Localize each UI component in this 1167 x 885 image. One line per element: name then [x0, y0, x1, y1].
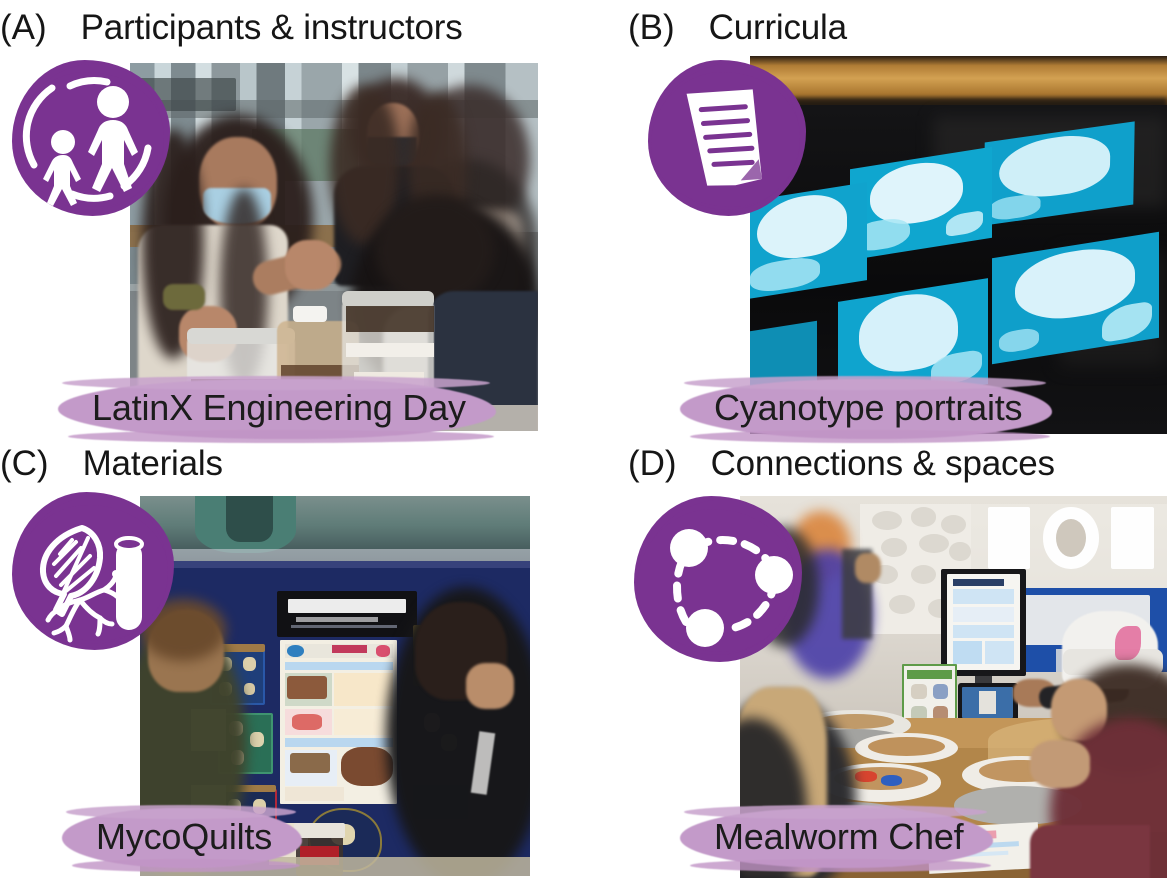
panel-a-letter: (A) — [0, 8, 47, 48]
panel-a-title: Participants & instructors — [81, 8, 463, 48]
caption-latinx-engineering-day: LatinX Engineering Day — [78, 383, 480, 433]
panel-b-letter: (B) — [628, 8, 675, 48]
panel-d: (D) Connections & spaces — [628, 444, 1167, 885]
panel-d-header: (D) Connections & spaces — [628, 444, 1055, 484]
caption-label: Mealworm Chef — [714, 816, 963, 858]
panel-b: (B) Curricula — [628, 8, 1167, 438]
leaf-mycelium-tube-icon — [12, 492, 174, 650]
caption-mycoquilts: MycoQuilts — [82, 812, 286, 862]
document-page-icon — [648, 60, 806, 216]
icon-badge-participants — [12, 60, 170, 216]
panel-d-title: Connections & spaces — [711, 444, 1055, 484]
panel-c-header: (C) Materials — [0, 444, 223, 484]
panel-c: (C) Materials — [0, 444, 580, 885]
panel-b-title: Curricula — [709, 8, 847, 48]
caption-label: LatinX Engineering Day — [92, 387, 466, 429]
panel-a-header: (A) Participants & instructors — [0, 8, 463, 48]
panel-a: (A) Participants & instructors — [0, 8, 580, 438]
panel-b-header: (B) Curricula — [628, 8, 847, 48]
panel-c-letter: (C) — [0, 444, 49, 484]
caption-cyanotype-portraits: Cyanotype portraits — [700, 383, 1036, 433]
caption-label: MycoQuilts — [96, 816, 272, 858]
icon-badge-curricula — [648, 60, 806, 216]
panel-d-letter: (D) — [628, 444, 677, 484]
panel-c-title: Materials — [83, 444, 223, 484]
caption-mealworm-chef: Mealworm Chef — [700, 812, 977, 862]
icon-badge-materials — [12, 492, 174, 650]
icon-badge-connections — [634, 496, 802, 662]
caption-label: Cyanotype portraits — [714, 387, 1022, 429]
figure-root: (A) Participants & instructors — [0, 0, 1167, 885]
network-nodes-icon — [634, 496, 802, 662]
two-people-in-circle-icon — [12, 60, 170, 216]
